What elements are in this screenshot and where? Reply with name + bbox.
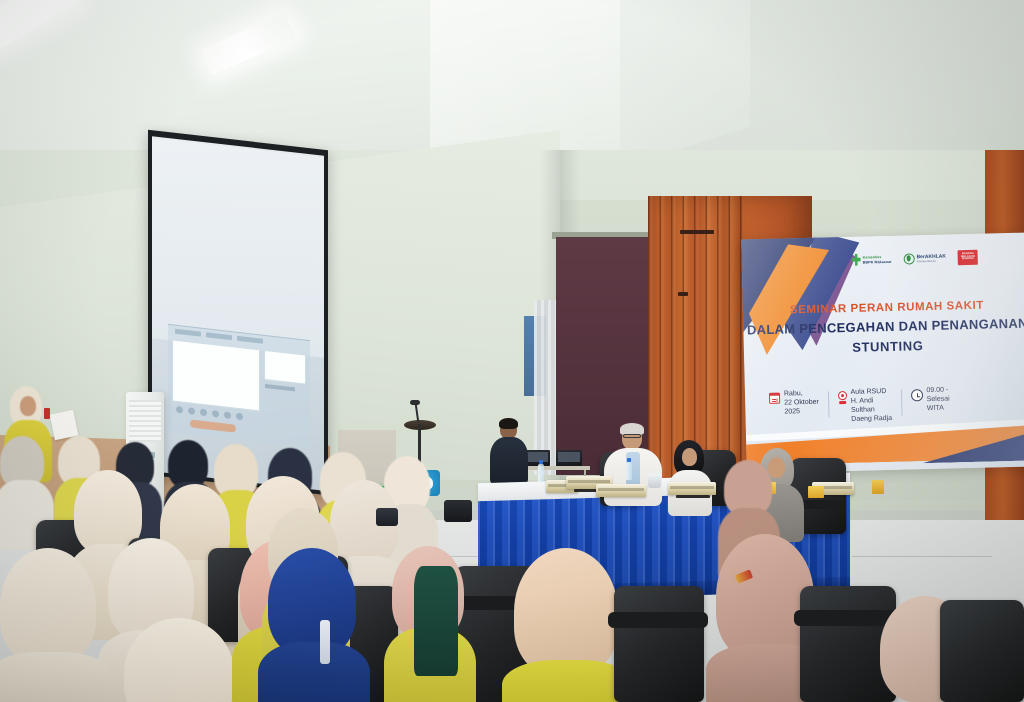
location-line-4: Daeng Radja	[851, 415, 892, 425]
berakhlak-logo-text: BerAKHLAK	[916, 253, 946, 260]
date-line-3: 2025	[784, 408, 819, 418]
nameplate	[668, 482, 716, 495]
floor-bag	[376, 508, 398, 526]
audience-chair-arm	[608, 612, 708, 628]
berakhlak-logo-subtitle: ASN BerAKHLAK	[917, 259, 947, 263]
nameplate	[596, 484, 646, 497]
kemenkes-logo-line2: BBPK Makassar	[863, 259, 892, 264]
water-bottle	[538, 464, 544, 482]
banner-title-line-3: STUNTING	[744, 335, 1024, 357]
location-pin-icon	[838, 391, 847, 404]
projected-side-text	[265, 384, 295, 391]
banner-title-line-2: DALAM PENCEGAHAN DAN PENANGANAN	[743, 315, 1024, 337]
eyeglasses-icon	[623, 434, 641, 438]
audience-chair	[940, 600, 1024, 702]
banner-info-date: Rabu, 22 Oktober 2025	[769, 390, 819, 418]
banner-logo-row: Kemenkes BBPK Makassar BerAKHLAK ASN Ber…	[851, 245, 1021, 271]
ac-vents-icon	[129, 400, 161, 442]
snack-box	[872, 480, 884, 494]
banner-info-separator	[900, 390, 902, 416]
floor-bag	[444, 500, 472, 522]
wood-notch-icon	[680, 230, 714, 234]
hijab-stripe	[320, 620, 330, 664]
floor-tile-seam	[852, 556, 992, 557]
seminar-banner: Kemenkes BBPK Makassar BerAKHLAK ASN Ber…	[741, 233, 1024, 474]
microphone-capsule-icon	[410, 400, 420, 405]
seminar-hall-photo: Kemenkes BBPK Makassar BerAKHLAK ASN Ber…	[0, 0, 1024, 702]
clock-icon	[910, 389, 922, 401]
banner-title-block: SEMINAR PERAN RUMAH SAKIT DALAM PENCEGAH…	[743, 298, 1024, 357]
technician-hair	[499, 418, 518, 429]
banner-info-separator	[828, 391, 830, 417]
date-line-2: 22 Oktober	[784, 399, 819, 409]
wood-notch-icon	[678, 292, 688, 296]
snack-box	[808, 486, 824, 498]
nameplate-stand	[676, 495, 710, 498]
projected-main-pane	[172, 339, 260, 411]
banner-info-row: Rabu, 22 Oktober 2025 Aula RSUD H. Andi …	[769, 385, 1016, 427]
time-line-3: WITA	[927, 404, 950, 414]
location-line-1: Aula RSUD	[851, 388, 892, 398]
projected-action-button	[190, 419, 236, 432]
marker-pen	[44, 408, 50, 419]
banner-info-time: 09.00 - Selesai WITA	[910, 387, 950, 415]
audience-chair	[614, 586, 704, 702]
drinking-cup	[648, 474, 661, 488]
banner-info-location: Aula RSUD H. Andi Sulthan Daeng Radja	[838, 388, 893, 425]
water-bottle	[626, 462, 632, 480]
projected-side-pane	[264, 350, 306, 385]
bangga-melayani-bangsa-logo-icon: BANGGA MELAYANI BANGSA	[958, 249, 978, 264]
laptop[interactable]	[556, 450, 582, 466]
time-line-2: Selesai	[927, 395, 950, 405]
berakhlak-logo-icon: BerAKHLAK ASN BerAKHLAK	[903, 252, 946, 264]
kemenkes-bbpk-logo-icon: Kemenkes BBPK Makassar	[852, 253, 892, 266]
calendar-icon	[769, 393, 780, 404]
kemenkes-logo-line1: Kemenkes	[863, 254, 892, 259]
projected-application-window	[168, 324, 310, 448]
bangga-logo-line3: BANGSA	[962, 258, 974, 261]
